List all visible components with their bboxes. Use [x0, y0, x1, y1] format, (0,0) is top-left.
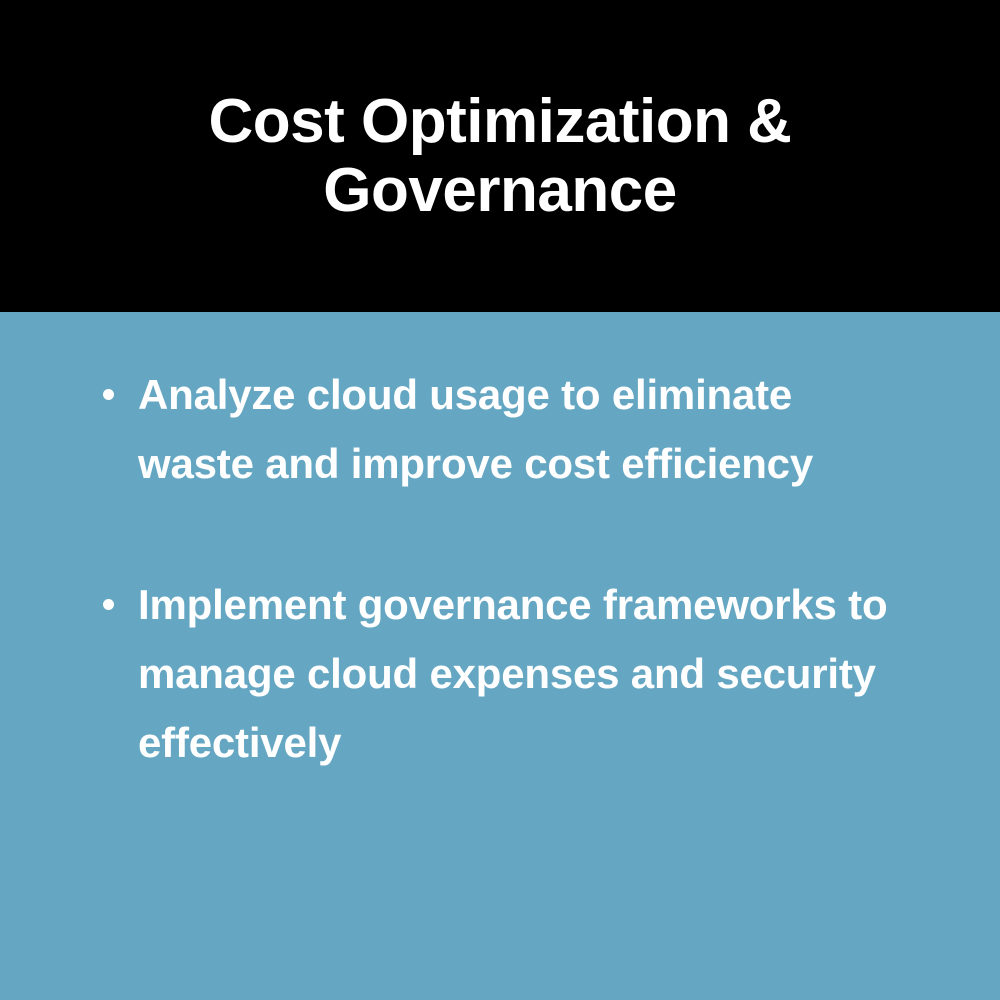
- bullet-dot-icon: [103, 599, 114, 610]
- list-item: Analyze cloud usage to eliminate waste a…: [90, 360, 908, 498]
- bullet-dot-icon: [103, 389, 114, 400]
- slide-title: Cost Optimization & Governance: [120, 87, 880, 226]
- slide-body-band: Analyze cloud usage to eliminate waste a…: [0, 312, 1000, 1000]
- bullet-text: Implement governance frameworks to manag…: [138, 581, 887, 766]
- bullet-text: Analyze cloud usage to eliminate waste a…: [138, 371, 813, 487]
- slide: Cost Optimization & Governance Analyze c…: [0, 0, 1000, 1000]
- list-item: Implement governance frameworks to manag…: [90, 570, 908, 777]
- slide-header-band: Cost Optimization & Governance: [0, 0, 1000, 312]
- bullet-list: Analyze cloud usage to eliminate waste a…: [90, 360, 910, 777]
